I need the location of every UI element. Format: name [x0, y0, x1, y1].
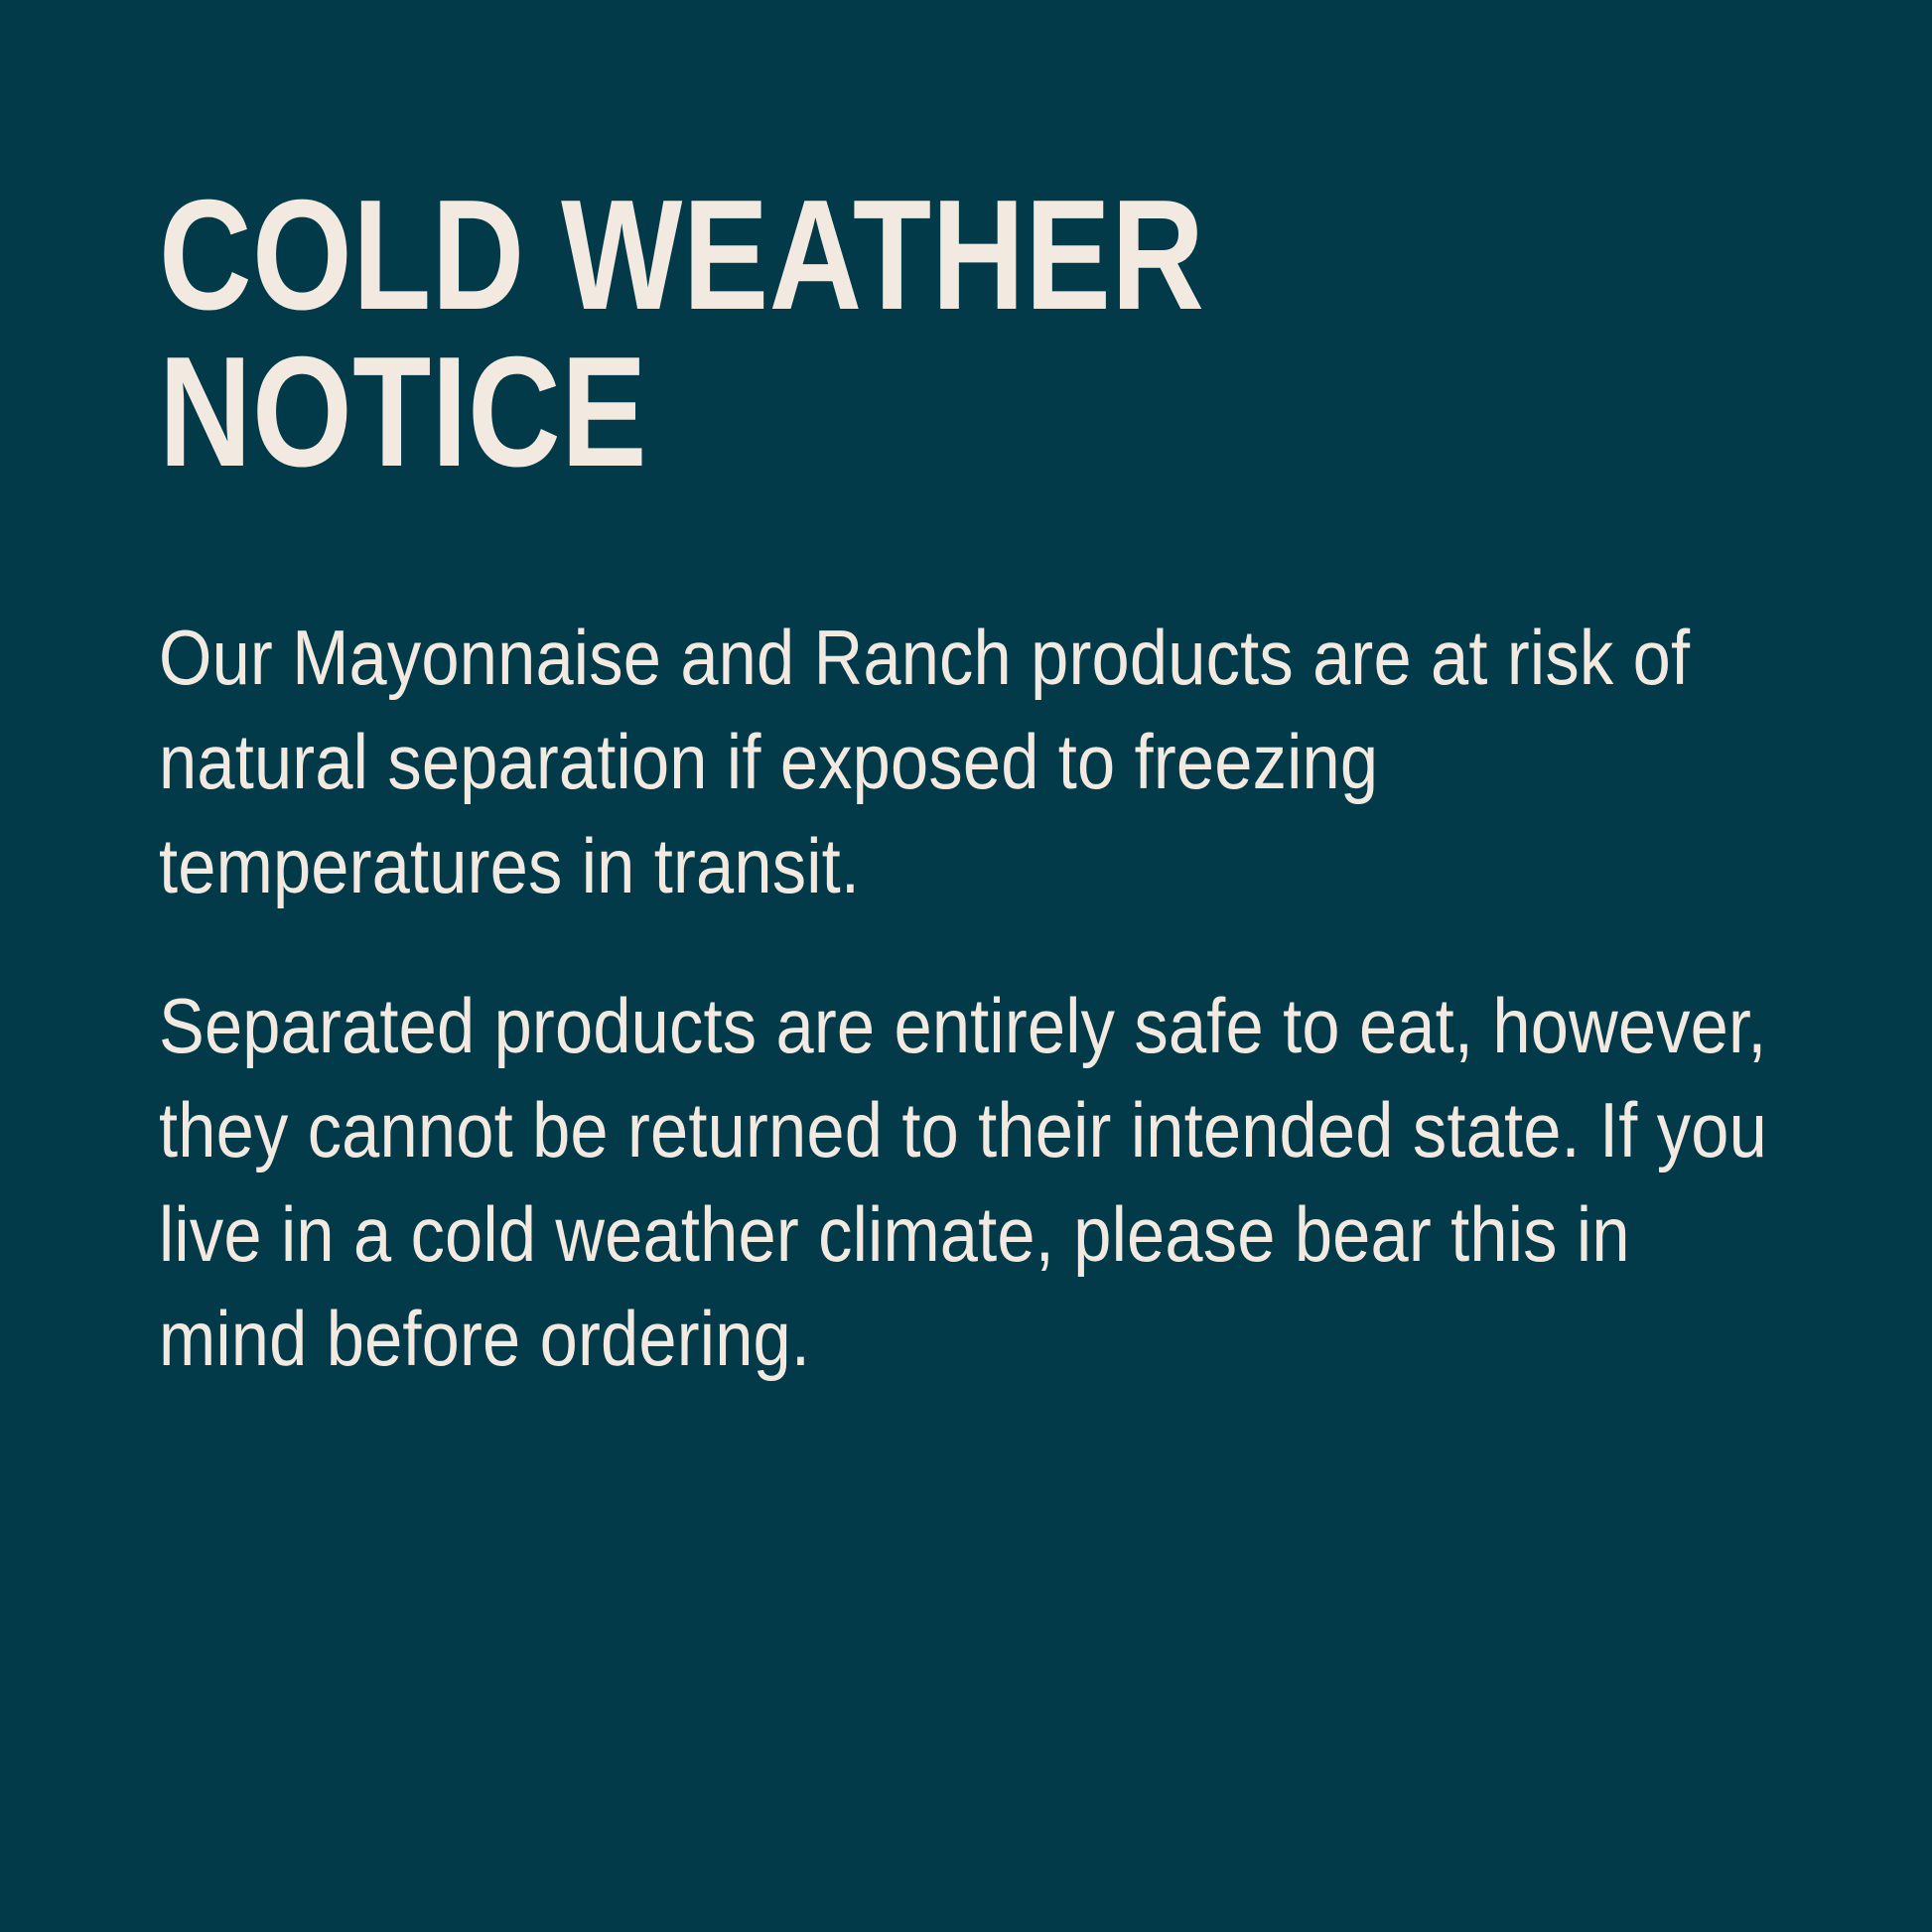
notice-paragraph-separation-risk: Our Mayonnaise and Ranch products are at… — [159, 606, 1775, 918]
notice-paragraph-safety-and-returns: Separated products are entirely safe to … — [159, 974, 1775, 1391]
page-title: COLD WEATHER NOTICE — [159, 177, 1494, 490]
notice-content: COLD WEATHER NOTICE Our Mayonnaise and R… — [159, 177, 1787, 1391]
cold-weather-notice-card: COLD WEATHER NOTICE Our Mayonnaise and R… — [0, 0, 1932, 1932]
notice-body: Our Mayonnaise and Ranch products are at… — [159, 606, 1787, 1391]
